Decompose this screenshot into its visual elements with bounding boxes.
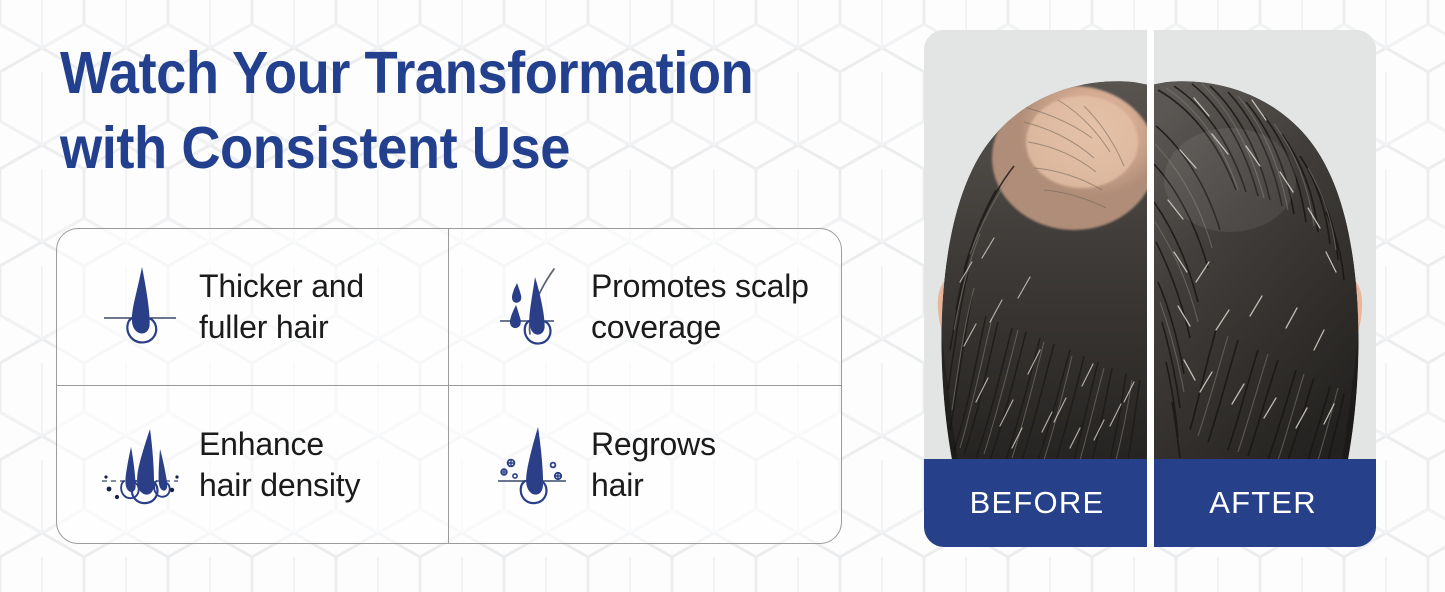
feature-item-enhance-hair-density: Enhance hair density bbox=[57, 386, 449, 543]
before-label: BEFORE bbox=[924, 485, 1150, 521]
feature-label: Enhance hair density bbox=[199, 424, 360, 506]
feature-item-regrows-hair: Regrows hair bbox=[449, 386, 841, 543]
hair-follicle-icon bbox=[97, 259, 183, 355]
hair-follicle-serum-icon bbox=[489, 259, 575, 355]
after-label: AFTER bbox=[1150, 485, 1376, 521]
label-bar-divider bbox=[1147, 459, 1154, 547]
feature-benefits-card: Thicker and fuller hair Promotes scalp c… bbox=[56, 228, 842, 544]
feature-label: Thicker and fuller hair bbox=[199, 266, 364, 348]
before-after-panel: BEFORE AFTER bbox=[924, 30, 1376, 547]
page-title-line-1: Watch Your Transformation bbox=[60, 36, 824, 111]
before-after-divider bbox=[1147, 30, 1154, 460]
feature-label: Promotes scalp coverage bbox=[591, 266, 809, 348]
after-photo-half bbox=[1150, 30, 1376, 460]
page-title-line-2: with Consistent Use bbox=[60, 111, 824, 186]
feature-item-thicker-fuller-hair: Thicker and fuller hair bbox=[57, 229, 449, 386]
page-title: Watch Your Transformation with Consisten… bbox=[60, 36, 824, 186]
before-after-photo bbox=[924, 30, 1376, 460]
hair-follicle-regrow-icon bbox=[489, 417, 575, 513]
feature-label: Regrows hair bbox=[591, 424, 716, 506]
before-after-label-bar: BEFORE AFTER bbox=[924, 459, 1376, 547]
before-photo-half bbox=[924, 30, 1150, 460]
feature-item-promotes-scalp-coverage: Promotes scalp coverage bbox=[449, 229, 841, 386]
hair-follicle-density-icon bbox=[97, 417, 183, 513]
